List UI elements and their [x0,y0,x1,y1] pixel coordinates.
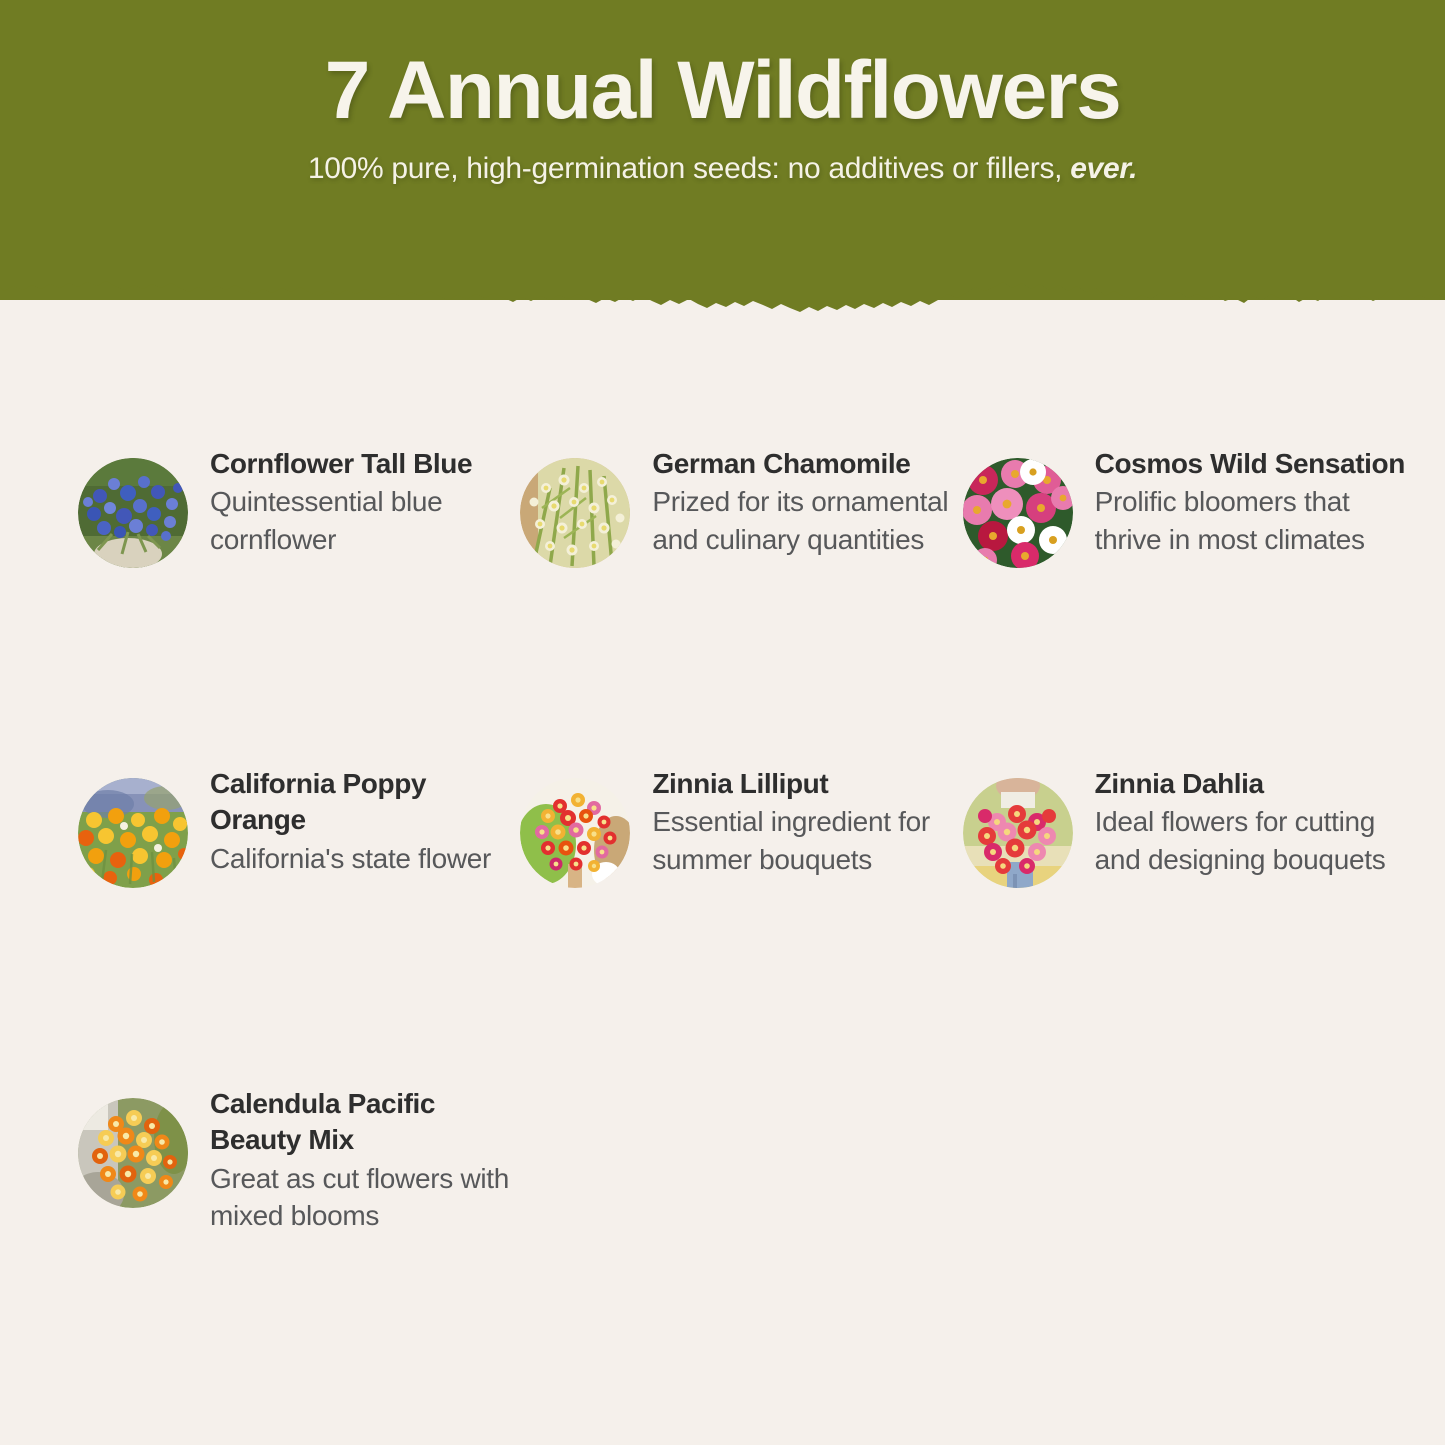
zinnia-dahlia-thumbnail [963,778,1073,888]
flower-description: Prized for its ornamental and culinary q… [652,483,952,558]
flower-text-block: Cosmos Wild Sensation Prolific bloomers … [1095,440,1405,558]
german-chamomile-photo-icon [520,458,630,568]
california-poppy-orange-photo-icon [78,778,188,888]
page-title: 7 Annual Wildflowers [0,48,1445,134]
flower-text-block: Cornflower Tall Blue Quintessential blue… [210,440,520,558]
flower-name: Cornflower Tall Blue [210,446,520,482]
header-content: 7 Annual Wildflowers 100% pure, high-ger… [0,0,1445,186]
german-chamomile-thumbnail [520,458,630,568]
flower-item-cosmos-wild-sensation[interactable]: Cosmos Wild Sensation Prolific bloomers … [963,440,1405,760]
header-banner: 7 Annual Wildflowers 100% pure, high-ger… [0,0,1445,300]
flower-item-german-chamomile[interactable]: German Chamomile Prized for its ornament… [520,440,962,760]
cornflower-tall-blue-thumbnail [78,458,188,568]
flower-item-cornflower-tall-blue[interactable]: Cornflower Tall Blue Quintessential blue… [78,440,520,760]
cosmos-wild-sensation-thumbnail [963,458,1073,568]
flower-name: California Poppy Orange [210,766,520,839]
flower-description: Prolific bloomers that thrive in most cl… [1095,483,1405,558]
flower-description: Quintessential blue cornflower [210,483,520,558]
page-subtitle: 100% pure, high-germination seeds: no ad… [0,152,1445,186]
subtitle-emphasis-text: ever. [1070,152,1137,185]
flower-description: Essential ingredient for summer bouquets [652,803,952,878]
flower-name: Zinnia Lilliput [652,766,952,802]
flower-text-block: German Chamomile Prized for its ornament… [652,440,952,558]
flower-item-zinnia-lilliput[interactable]: Zinnia Lilliput Essential ingredient for… [520,760,962,1080]
california-poppy-orange-thumbnail [78,778,188,888]
flower-text-block: Zinnia Lilliput Essential ingredient for… [652,760,952,878]
zinnia-lilliput-thumbnail [520,778,630,888]
flower-name: German Chamomile [652,446,952,482]
product-infographic: 7 Annual Wildflowers 100% pure, high-ger… [0,0,1445,1445]
calendula-pacific-beauty-mix-photo-icon [78,1098,188,1208]
flower-name: Zinnia Dahlia [1095,766,1405,802]
cornflower-tall-blue-photo-icon [78,458,188,568]
flower-item-calendula-pacific-beauty-mix[interactable]: Calendula Pacific Beauty Mix Great as cu… [78,1080,520,1400]
zinnia-dahlia-photo-icon [963,778,1073,888]
flower-text-block: Zinnia Dahlia Ideal flowers for cutting … [1095,760,1405,878]
subtitle-main-text: 100% pure, high-germination seeds: no ad… [308,152,1070,185]
flower-description: Ideal flowers for cutting and designing … [1095,803,1405,878]
flower-list: Cornflower Tall Blue Quintessential blue… [0,440,1445,1400]
flower-name: Cosmos Wild Sensation [1095,446,1405,482]
flower-description: California's state flower [210,840,520,878]
flower-text-block: Calendula Pacific Beauty Mix Great as cu… [210,1080,520,1235]
flower-description: Great as cut flowers with mixed blooms [210,1160,520,1235]
zinnia-lilliput-photo-icon [520,778,630,888]
calendula-pacific-beauty-mix-thumbnail [78,1098,188,1208]
flower-item-california-poppy-orange[interactable]: California Poppy Orange California's sta… [78,760,520,1080]
flower-name: Calendula Pacific Beauty Mix [210,1086,520,1159]
flower-text-block: California Poppy Orange California's sta… [210,760,520,877]
flower-item-zinnia-dahlia[interactable]: Zinnia Dahlia Ideal flowers for cutting … [963,760,1405,1080]
cosmos-wild-sensation-photo-icon [963,458,1073,568]
